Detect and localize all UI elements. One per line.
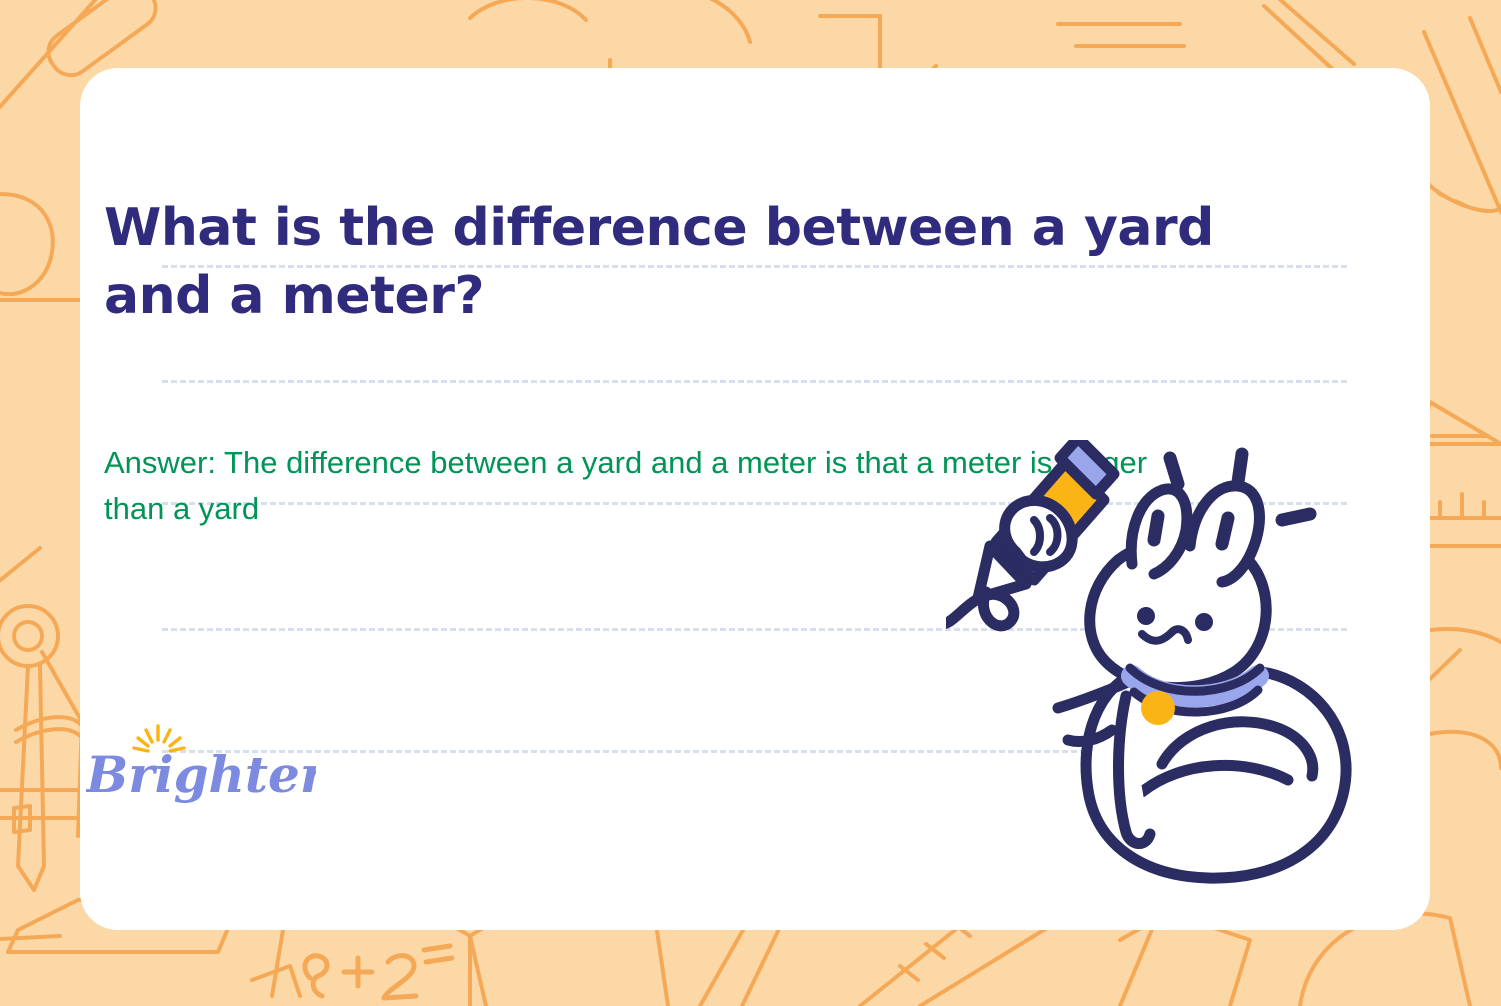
mascot-bunny-with-pencil [946,440,1386,888]
brand-logo[interactable]: Brighterly [86,720,316,810]
question-title: What is the difference between a yard an… [104,194,1284,330]
pencil-squiggle [946,592,1014,626]
paw [1005,500,1072,567]
brand-wordmark: Brighterly [86,745,316,804]
